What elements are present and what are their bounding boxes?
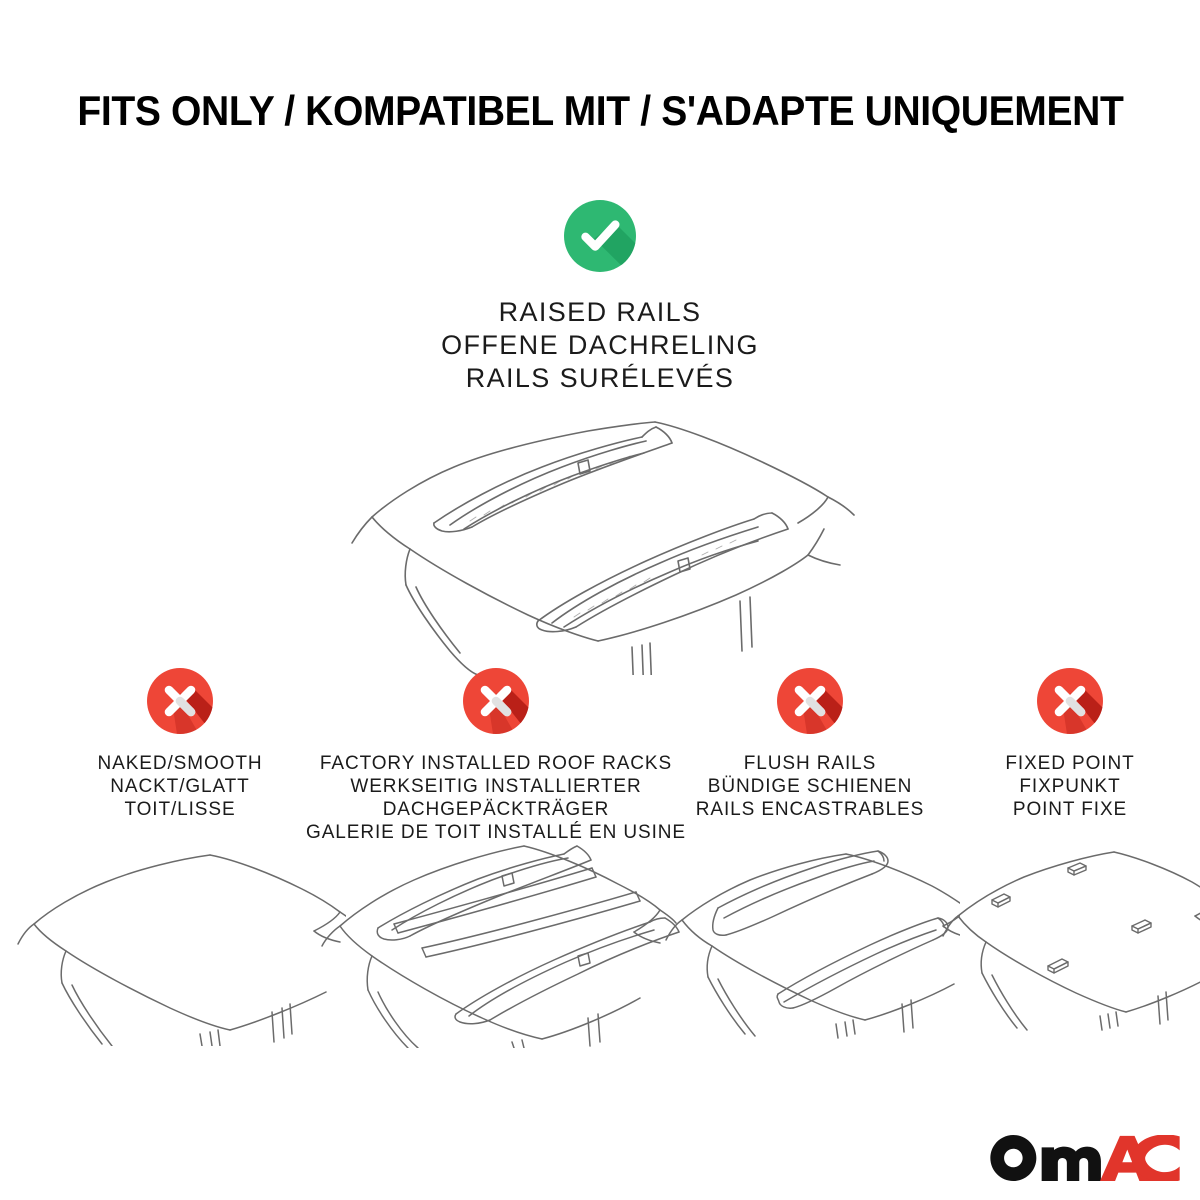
- compatible-label-line-2: OFFENE DACHRELING: [0, 329, 1200, 362]
- car-roof-naked-smooth-illustration: [14, 846, 346, 1046]
- compatible-section: RAISED RAILS OFFENE DACHRELING RAILS SUR…: [0, 200, 1200, 395]
- car-roof-factory-roof-racks-illustration: [306, 828, 686, 1048]
- omac-logo: [990, 1130, 1180, 1186]
- incompatible-label-3-line-1: FIXED POINT: [940, 752, 1200, 775]
- compatible-label-line-3: RAILS SURÉLEVÉS: [0, 362, 1200, 395]
- compatible-label: RAISED RAILS OFFENE DACHRELING RAILS SUR…: [0, 296, 1200, 395]
- car-roof-fixed-point-illustration: [940, 846, 1200, 1046]
- incompatible-column-factory-roof-racks: FACTORY INSTALLED ROOF RACKS WERKSEITIG …: [306, 668, 686, 844]
- compatible-label-line-1: RAISED RAILS: [0, 296, 1200, 329]
- incompatible-label-3-line-2: FIXPUNKT: [940, 775, 1200, 798]
- compatible-badge-wrap: [0, 200, 1200, 272]
- x-circle-icon: [463, 668, 529, 734]
- incompatible-label-2-line-2: BÜNDIGE SCHIENEN: [660, 775, 960, 798]
- incompatible-column-fixed-point: FIXED POINT FIXPUNKT POINT FIXE: [940, 668, 1200, 821]
- incompatible-label-2-line-3: RAILS ENCASTRABLES: [660, 798, 960, 821]
- incompatible-sections: NAKED/SMOOTH NACKT/GLATT TOIT/LISSE: [0, 668, 1200, 1188]
- incompatible-label-0-line-2: NACKT/GLATT: [14, 775, 346, 798]
- x-badge-wrap-2: [660, 668, 960, 740]
- page-title: FITS ONLY / KOMPATIBEL MIT / S'ADAPTE UN…: [77, 88, 1123, 134]
- x-badge-wrap-1: [306, 668, 686, 740]
- incompatible-label-3-line-3: POINT FIXE: [940, 798, 1200, 821]
- x-circle-icon: [1037, 668, 1103, 734]
- x-circle-icon: [777, 668, 843, 734]
- incompatible-label-1-line-2: WERKSEITIG INSTALLIERTER: [306, 775, 686, 798]
- incompatible-label-0-line-3: TOIT/LISSE: [14, 798, 346, 821]
- incompatible-label-1-line-1: FACTORY INSTALLED ROOF RACKS: [306, 752, 686, 775]
- incompatible-label-0: NAKED/SMOOTH NACKT/GLATT TOIT/LISSE: [14, 752, 346, 821]
- x-badge-wrap-3: [940, 668, 1200, 740]
- incompatible-label-2-line-1: FLUSH RAILS: [660, 752, 960, 775]
- page-title-bar: FITS ONLY / KOMPATIBEL MIT / S'ADAPTE UN…: [0, 88, 1200, 134]
- car-roof-raised-rails-illustration: [350, 405, 860, 675]
- incompatible-column-flush-rails: FLUSH RAILS BÜNDIGE SCHIENEN RAILS ENCAS…: [660, 668, 960, 821]
- car-roof-flush-rails-illustration: [660, 846, 960, 1046]
- incompatible-label-2: FLUSH RAILS BÜNDIGE SCHIENEN RAILS ENCAS…: [660, 752, 960, 821]
- x-circle-icon: [147, 668, 213, 734]
- check-circle-icon: [564, 200, 636, 272]
- incompatible-label-0-line-1: NAKED/SMOOTH: [14, 752, 346, 775]
- x-badge-wrap-0: [14, 668, 346, 740]
- incompatible-label-3: FIXED POINT FIXPUNKT POINT FIXE: [940, 752, 1200, 821]
- incompatible-label-1-line-3: DACHGEPÄCKTRÄGER: [306, 798, 686, 821]
- incompatible-column-naked-smooth: NAKED/SMOOTH NACKT/GLATT TOIT/LISSE: [14, 668, 346, 821]
